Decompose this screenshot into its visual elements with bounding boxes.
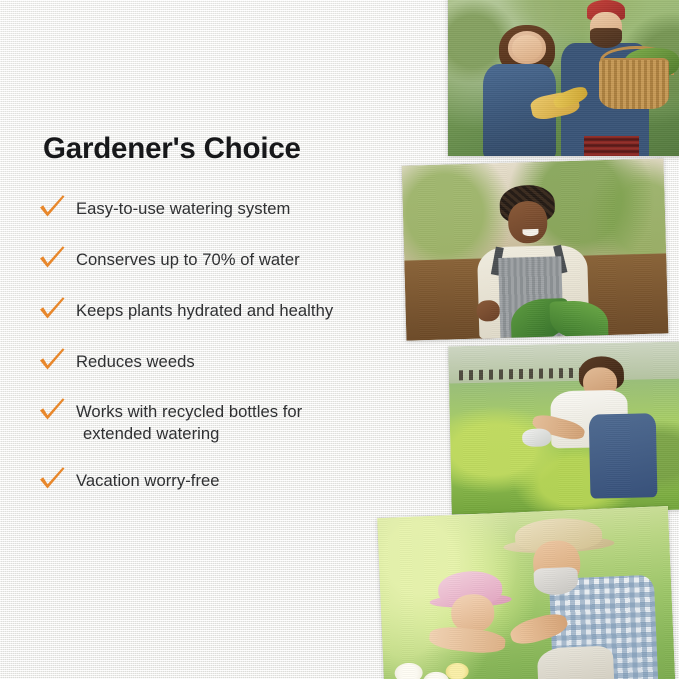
photo-woman-gardening xyxy=(448,342,679,515)
photo-couple-harvest xyxy=(448,0,679,156)
product-feature-infographic: Gardener's Choice Easy-to-use watering s… xyxy=(0,0,679,679)
photo-grandfather-child xyxy=(377,506,676,679)
photo-man-plants xyxy=(402,158,669,340)
photo-collage xyxy=(0,0,679,679)
